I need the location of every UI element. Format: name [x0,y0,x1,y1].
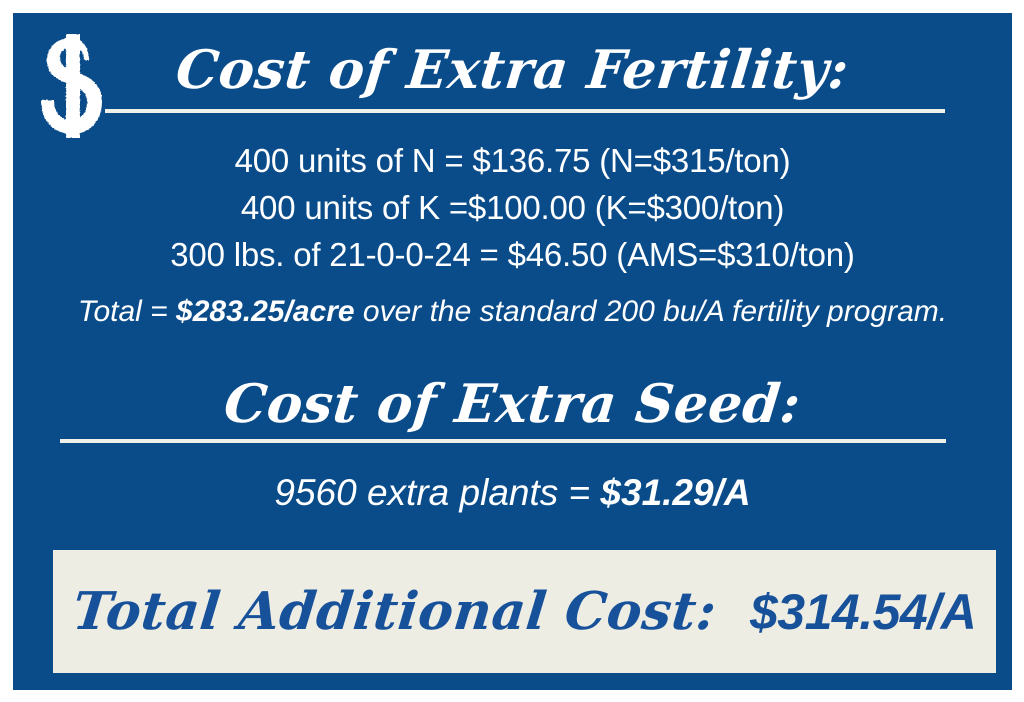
fertility-total-suffix: over the standard 200 bu/A fertility pro… [355,295,948,328]
fertility-total-prefix: Total = [78,295,176,328]
seed-line-item: 9560 extra plants = $31.29/A [13,468,1012,518]
fertility-total-sentence: Total = $283.25/acre over the standard 2… [13,291,1012,333]
seed-line-prefix: 9560 extra plants = [274,472,600,513]
list-item: 400 units of K =$100.00 (K=$300/ton) [13,184,1012,231]
divider-seed [60,439,946,443]
list-item: 400 units of N = $136.75 (N=$315/ton) [13,137,1012,184]
blue-panel: Cost of Extra Fertility: 400 units of N … [13,13,1012,690]
infographic-canvas: Cost of Extra Fertility: 400 units of N … [0,0,1024,702]
total-bar-content: Total Additional Cost: $314.54/A [73,582,976,642]
seed-line-amount: $31.29/A [600,472,750,513]
divider-fertility [105,109,945,113]
fertility-total-amount: $283.25/acre [176,295,355,328]
list-item: 300 lbs. of 21-0-0-24 = $46.50 (AMS=$310… [13,231,1012,278]
heading-cost-of-extra-seed: Cost of Extra Seed: [10,373,1016,435]
fertility-line-items: 400 units of N = $136.75 (N=$315/ton) 40… [13,137,1012,278]
total-additional-cost-label: Total Additional Cost: [70,582,719,642]
total-additional-cost-bar: Total Additional Cost: $314.54/A [53,550,996,673]
total-additional-cost-value: $314.54/A [750,583,976,641]
heading-cost-of-extra-fertility: Cost of Extra Fertility: [10,39,1016,101]
